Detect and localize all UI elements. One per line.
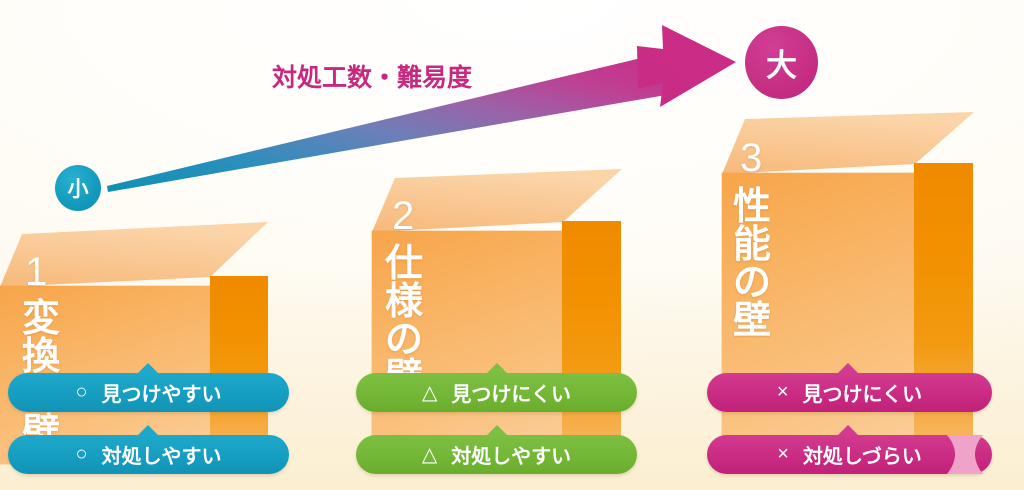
block-3-number: 3 (740, 138, 763, 178)
block-2-pill-2-text: 対処しやすい (451, 440, 571, 469)
status-mark-circle-icon: ○ (75, 381, 87, 404)
arrow-label: 対処工数・難易度 (272, 58, 472, 94)
block-1-pill-1[interactable]: ○ 見つけやすい (8, 373, 289, 412)
block-2-pill-2[interactable]: △ 対処しやすい (356, 435, 637, 474)
status-mark-triangle-icon: △ (422, 442, 437, 467)
block-2-side (562, 221, 621, 464)
block-3-pill-1-text: 見つけにくい (803, 378, 923, 407)
status-mark-cross-icon: × (777, 443, 789, 466)
block-1-number: 1 (25, 252, 48, 292)
scale-high-label: 大 (766, 40, 797, 85)
block-2-number: 2 (392, 196, 415, 236)
block-3-pill-1[interactable]: × 見つけにくい (707, 373, 992, 412)
scale-low-label: 小 (68, 173, 89, 203)
block-2-pill-1[interactable]: △ 見つけにくい (356, 373, 637, 412)
status-mark-cross-icon: × (777, 381, 789, 404)
scale-high-badge: 大 (745, 26, 818, 99)
status-mark-triangle-icon: △ (422, 380, 437, 405)
block-1-pill-1-text: 見つけやすい (102, 378, 222, 407)
block-2-pill-1-text: 見つけにくい (451, 378, 571, 407)
block-3-pill-2-text: 対処しづらい (803, 440, 922, 469)
block-1-pill-2-text: 対処しやすい (102, 440, 222, 469)
block-1-pill-2[interactable]: ○ 対処しやすい (8, 435, 289, 474)
diagram-canvas: 対処工数・難易度 小 大 1 変換の壁 ○ 見つけやすい ○ (0, 0, 1024, 490)
pill-accent-wedge-icon (947, 435, 997, 475)
scale-low-badge: 小 (55, 165, 101, 211)
block-3-side (914, 163, 973, 464)
status-mark-circle-icon: ○ (76, 443, 88, 466)
block-3-title: 性能の壁 (733, 188, 771, 340)
